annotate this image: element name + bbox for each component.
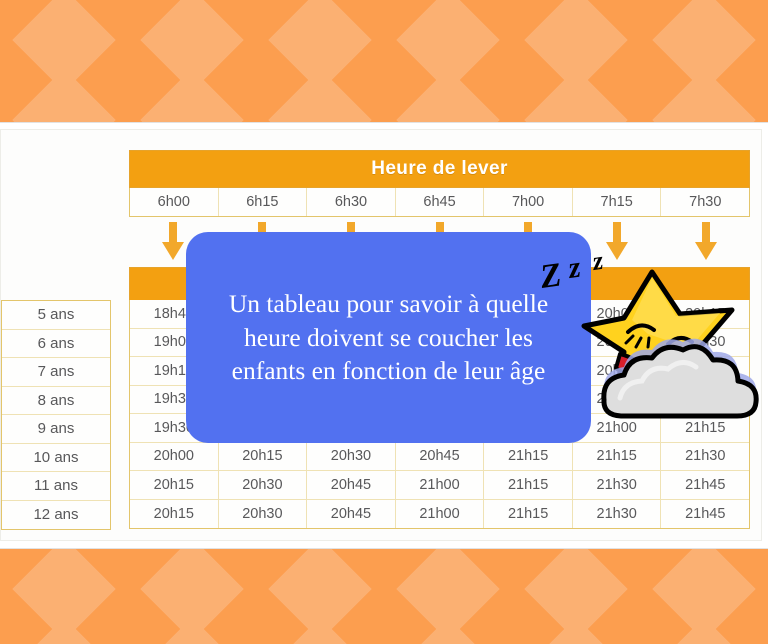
bedtime-cell: 20h45: [307, 471, 396, 499]
bottom-chevron-banner: [0, 549, 768, 644]
wake-time-cell: 6h30: [307, 188, 396, 216]
down-arrow-icon: [604, 222, 630, 262]
wake-time-header: Heure de lever: [129, 150, 750, 188]
bedtime-cell: 20h15: [219, 443, 308, 471]
wake-time-cell: 7h00: [484, 188, 573, 216]
bedtime-cell: 20h00: [130, 443, 219, 471]
bedtime-cell: 20h30: [219, 500, 308, 529]
bedtime-cell: 21h00: [396, 471, 485, 499]
bedtime-cell: 21h00: [661, 386, 749, 414]
wake-time-row: 6h00 6h15 6h30 6h45 7h00 7h15 7h30: [129, 188, 750, 217]
table-row: 20h1520h3020h4521h0021h1521h3021h45: [130, 471, 749, 500]
age-cell: 11 ans: [2, 472, 110, 501]
table-row: 20h0020h1520h3020h4521h1521h1521h30: [130, 443, 749, 472]
down-arrow-icon: [693, 222, 719, 262]
wake-time-cell: 7h15: [573, 188, 662, 216]
bedtime-cell: 20h30: [307, 443, 396, 471]
table-row: 20h1520h3020h4521h0021h1521h3021h45: [130, 500, 749, 529]
wake-time-cell: 6h00: [130, 188, 219, 216]
bedtime-cell: 21h30: [573, 500, 662, 529]
wake-time-cell: 7h30: [661, 188, 749, 216]
bedtime-cell: 21h15: [484, 500, 573, 529]
age-cell: 10 ans: [2, 444, 110, 473]
bedtime-cell: 20h15: [130, 471, 219, 499]
bedtime-cell: 20h15: [130, 500, 219, 529]
wake-time-header-label: Heure de lever: [371, 158, 508, 180]
down-arrow-icon: [160, 222, 186, 262]
bedtime-cell: 20h45: [307, 500, 396, 529]
bedtime-cell: 21h30: [661, 443, 749, 471]
bedtime-cell: 20h15: [661, 300, 749, 328]
top-chevron-banner: [0, 0, 768, 122]
age-cell: 8 ans: [2, 387, 110, 416]
age-cell: 9 ans: [2, 415, 110, 444]
bedtime-cell: 20h45: [396, 443, 485, 471]
age-cell: 7 ans: [2, 358, 110, 387]
bedtime-cell: 21h00: [396, 500, 485, 529]
bedtime-cell: 21h15: [661, 414, 749, 442]
caption-text: Un tableau pour savoir à quelle heure do…: [186, 287, 591, 388]
bedtime-cell: 20h30: [661, 329, 749, 357]
bedtime-cell: 21h15: [484, 443, 573, 471]
bedtime-cell: 20h45: [661, 357, 749, 385]
bedtime-cell: 21h15: [573, 443, 662, 471]
wake-time-cell: 6h15: [219, 188, 308, 216]
bedtime-cell: 20h30: [219, 471, 308, 499]
bedtime-cell: 21h45: [661, 500, 749, 529]
age-cell: 6 ans: [2, 330, 110, 359]
age-cell: 12 ans: [2, 501, 110, 530]
bedtime-cell: 21h30: [573, 471, 662, 499]
age-cell: 5 ans: [2, 301, 110, 330]
caption-overlay: Un tableau pour savoir à quelle heure do…: [186, 232, 591, 443]
arrow-slot: [661, 220, 750, 264]
ages-list: 5 ans 6 ans 7 ans 8 ans 9 ans 10 ans 11 …: [1, 300, 111, 530]
bedtime-cell: 21h15: [484, 471, 573, 499]
wake-time-cell: 6h45: [396, 188, 485, 216]
bedtime-cell: 21h45: [661, 471, 749, 499]
ages-column: 5 ans 6 ans 7 ans 8 ans 9 ans 10 ans 11 …: [0, 300, 111, 530]
